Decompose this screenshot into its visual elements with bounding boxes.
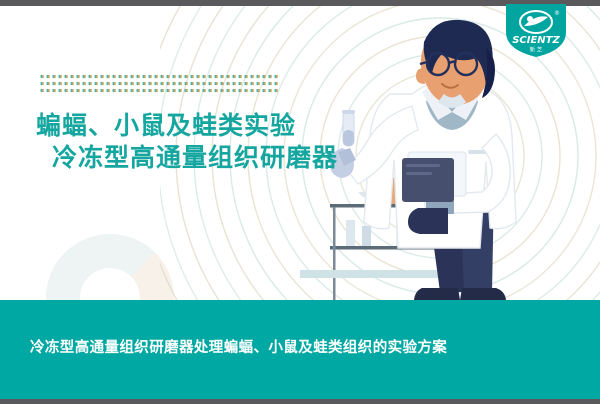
clipboard-folder [402, 152, 466, 202]
title-line-2: 冷冻型高通量组织研磨器 [52, 142, 338, 174]
bottom-banner: 冷冻型高通量组织研磨器处理蝙蝠、小鼠及蛙类组织的实验方案 [0, 300, 600, 399]
registered-mark-icon: ® [554, 10, 560, 17]
banner-text: 冷冻型高通量组织研磨器处理蝙蝠、小鼠及蛙类组织的实验方案 [30, 336, 447, 357]
bottom-chrome-bar [0, 399, 600, 404]
ring-watermark [46, 234, 174, 300]
headline-block: 蝙蝠、小鼠及蛙类实验 冷冻型高通量组织研磨器 [36, 110, 338, 174]
poster-root: 蝙蝠、小鼠及蛙类实验 冷冻型高通量组织研磨器 [0, 0, 600, 404]
logo-wordmark: SCIENTZ [512, 35, 560, 46]
test-tube [342, 110, 355, 146]
scientz-logo[interactable]: SCIENTZ 新 芝 ® [504, 2, 568, 58]
title-line-1: 蝙蝠、小鼠及蛙类实验 [36, 110, 338, 142]
logo-sub-cn: 新 芝 [530, 46, 543, 54]
dot-gradient-block [40, 74, 280, 96]
